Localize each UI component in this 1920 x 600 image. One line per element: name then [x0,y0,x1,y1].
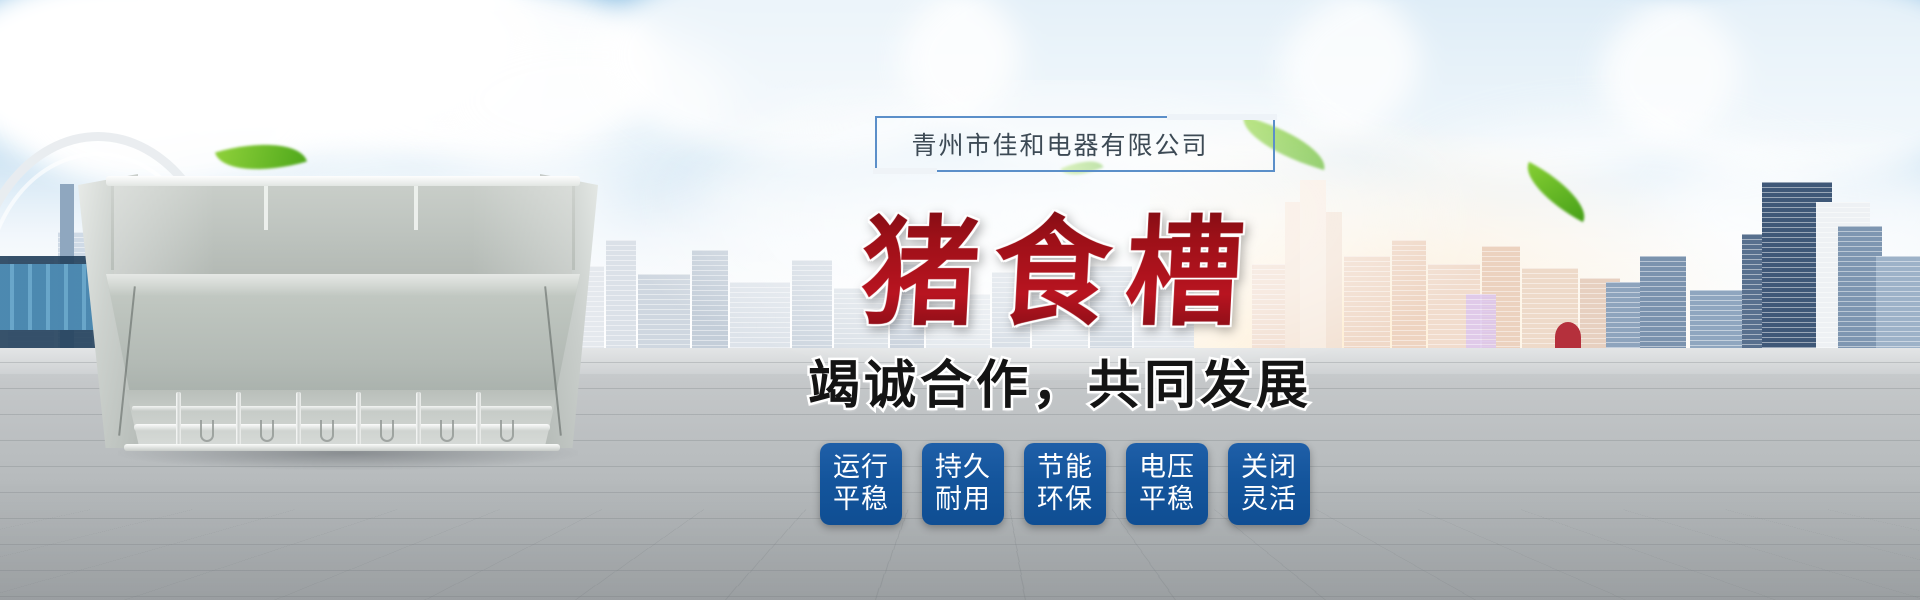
badge-line-2: 耐用 [935,484,991,516]
badge-line-2: 平稳 [1139,484,1195,516]
badge-line-1: 节能 [1037,452,1093,484]
slogan-subtitle: 竭诚合作，共同发展 [690,344,1430,416]
feature-badge-list: 运行 平稳 持久 耐用 节能 环保 电压 平稳 关闭 灵活 [700,436,1430,532]
badge-line-1: 关闭 [1241,452,1297,484]
text-content-block: 青州市佳和电器有限公司 猪食槽 竭诚合作，共同发展 运行 平稳 持久 耐用 节能… [690,96,1430,546]
feature-badge[interactable]: 节能 环保 [1024,443,1106,525]
pig-feeder-trough-image [78,168,598,468]
badge-line-2: 平稳 [833,484,889,516]
badge-line-2: 环保 [1037,484,1093,516]
badge-line-2: 灵活 [1241,484,1297,516]
feature-badge[interactable]: 运行 平稳 [820,443,902,525]
feature-badge[interactable]: 电压 平稳 [1126,443,1208,525]
feature-badge[interactable]: 持久 耐用 [922,443,1004,525]
badge-line-1: 运行 [833,452,889,484]
badge-line-1: 持久 [935,452,991,484]
feature-badge[interactable]: 关闭 灵活 [1228,443,1310,525]
main-title: 猪食槽 [686,182,1434,342]
promotional-banner: 青州市佳和电器有限公司 猪食槽 竭诚合作，共同发展 运行 平稳 持久 耐用 节能… [0,0,1920,600]
badge-line-1: 电压 [1139,452,1195,484]
